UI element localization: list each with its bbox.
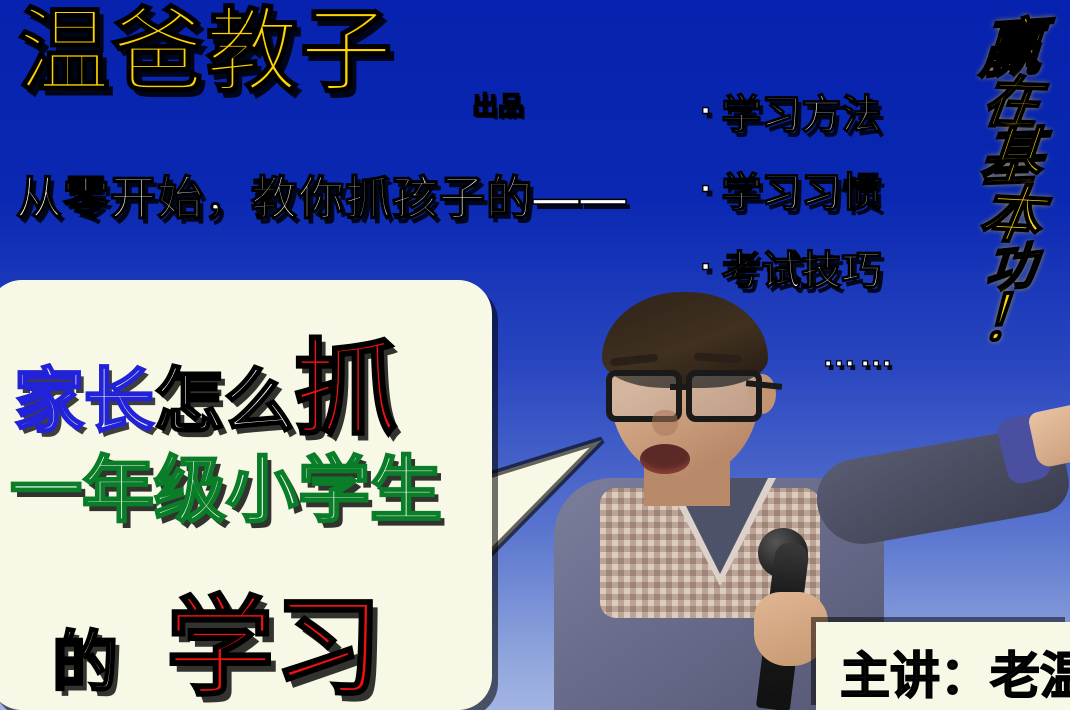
headline-word-parents: 家长: [14, 362, 154, 440]
headline-word-how: 怎么: [154, 362, 294, 440]
bullet-dot-icon: ·: [700, 247, 713, 287]
headline-line-1: 家长 怎么 抓: [14, 338, 398, 442]
calligraphy-char: ！: [978, 289, 1043, 349]
glasses-icon: [606, 370, 764, 410]
speaker-nose: [652, 410, 678, 436]
list-item: · 学习习惯: [700, 160, 881, 218]
headline-line-3: 的 学习: [52, 594, 382, 702]
produced-by-label: 出品: [472, 86, 524, 123]
subtitle: 从零开始，教你抓孩子的——: [16, 162, 627, 228]
presenter-label: 主讲：老温: [840, 636, 1070, 708]
topic-list: · 学习方法 · 学习习惯 · 考试技巧: [700, 82, 881, 316]
calligraphy-slogan: 赢 在 基 本 功 ！: [963, 22, 1059, 348]
list-item: · 考试技巧: [700, 238, 881, 296]
list-item: · 学习方法: [700, 82, 881, 140]
list-item-label: 学习方法: [721, 82, 881, 140]
list-item-label: 学习习惯: [721, 160, 881, 218]
page-title: 温爸教子: [18, 6, 394, 98]
speaker-mouth: [640, 444, 690, 474]
headline-word-first-grader: 一年级小学生: [10, 451, 442, 531]
presenter-badge: 主讲：老温: [816, 622, 1070, 710]
headline-line-2: 一年级小学生: [10, 455, 442, 527]
bullet-dot-icon: ·: [700, 91, 713, 131]
bullet-dot-icon: ·: [700, 169, 713, 209]
list-item-label: 考试技巧: [721, 238, 881, 296]
headline-word-study: 学习: [166, 587, 382, 708]
headline-word-grasp: 抓: [294, 332, 398, 448]
headline-word-de: 的: [52, 625, 118, 699]
ellipsis-label: ……: [822, 336, 896, 375]
poster-canvas: 温爸教子 出品 从零开始，教你抓孩子的—— · 学习方法 · 学习习惯 · 考试…: [0, 0, 1070, 710]
